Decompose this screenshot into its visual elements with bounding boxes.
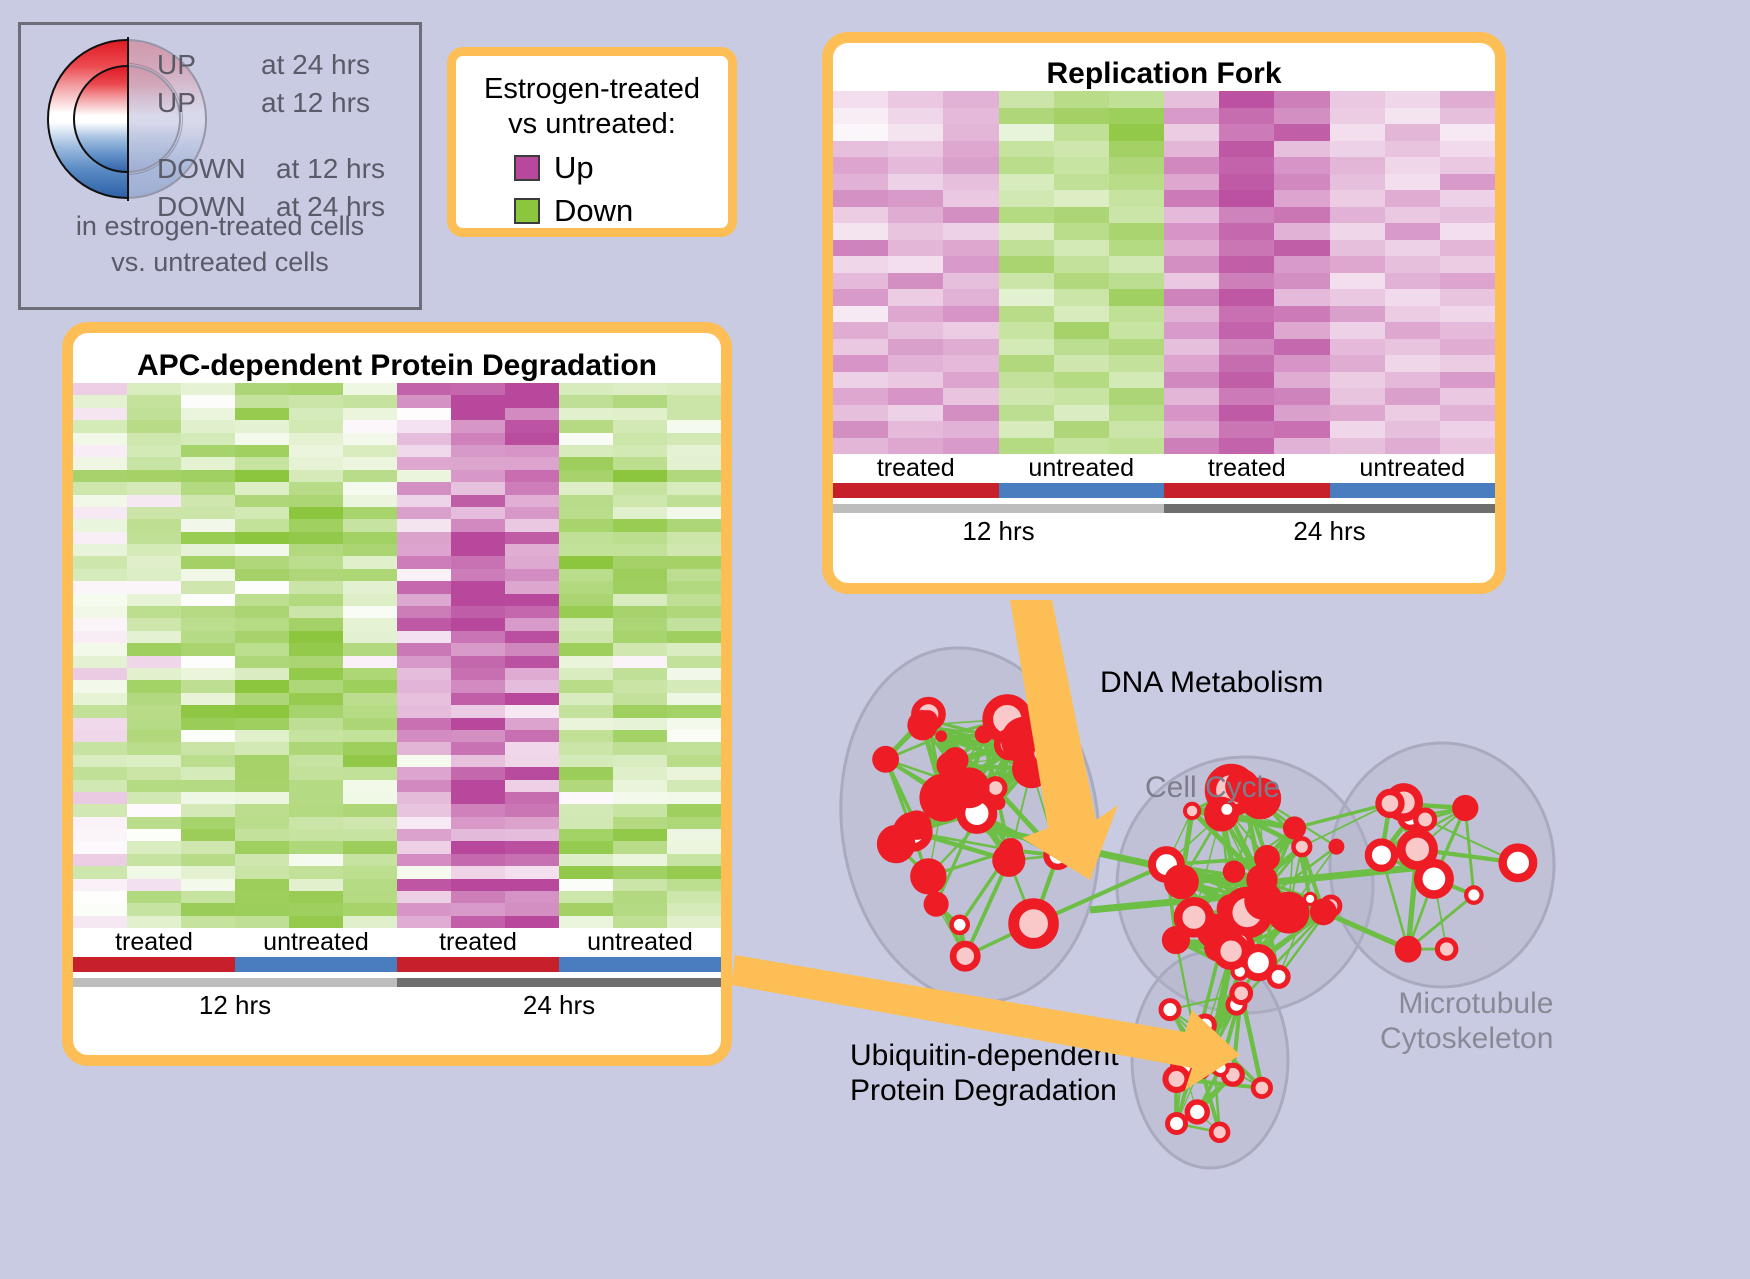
network-edge xyxy=(886,759,977,813)
heatmap-cell xyxy=(235,606,289,618)
network-node[interactable] xyxy=(988,700,1027,739)
heatmap-cell xyxy=(1054,124,1109,141)
heatmap-cell xyxy=(181,470,235,482)
heatmap-cell xyxy=(1330,91,1385,108)
network-node[interactable] xyxy=(986,779,1005,798)
network-edge xyxy=(943,744,1009,797)
heatmap-footer-replication: treateduntreatedtreateduntreated 12 hrs2… xyxy=(833,454,1495,547)
heatmap-cell xyxy=(505,594,559,606)
heatmap-cell xyxy=(559,780,613,792)
network-edge xyxy=(950,765,996,788)
network-node[interactable] xyxy=(1389,787,1419,817)
heatmap-cell xyxy=(181,742,235,754)
heatmap-cell xyxy=(559,755,613,767)
heatmap-cell xyxy=(1330,421,1385,438)
network-node[interactable] xyxy=(1283,816,1306,839)
network-edge xyxy=(1240,912,1324,972)
heatmap-cell xyxy=(181,408,235,420)
heatmap-cell xyxy=(999,388,1054,405)
heatmap-cell xyxy=(1109,207,1164,224)
network-node[interactable] xyxy=(1253,1079,1270,1096)
heatmap-cell xyxy=(1219,207,1274,224)
heatmap-cell xyxy=(289,705,343,717)
network-edge xyxy=(1302,847,1310,899)
heatmap-cell xyxy=(1440,355,1495,372)
network-node[interactable] xyxy=(915,701,942,728)
heatmap-cell xyxy=(888,289,943,306)
heatmap-cell xyxy=(289,433,343,445)
heatmap-cell xyxy=(181,445,235,457)
network-node[interactable] xyxy=(924,892,949,917)
network-edge xyxy=(1381,803,1390,855)
network-node[interactable] xyxy=(1196,1016,1214,1034)
network-node[interactable] xyxy=(1395,936,1422,963)
network-edge xyxy=(923,719,1008,725)
network-edge xyxy=(1009,850,1011,860)
heatmap-cell xyxy=(888,157,943,174)
heatmap-cell xyxy=(1219,91,1274,108)
heatmap-cell xyxy=(451,891,505,903)
network-edge xyxy=(1218,913,1289,948)
heatmap-cell xyxy=(1440,240,1495,257)
heatmap-cell xyxy=(235,755,289,767)
heatmap-cell xyxy=(1385,124,1440,141)
network-edge xyxy=(1231,899,1310,951)
heatmap-cell xyxy=(1330,108,1385,125)
heatmap-cell xyxy=(667,903,721,915)
legend-updown-panel: Estrogen-treated vs untreated: Up Down xyxy=(447,47,737,237)
network-edge xyxy=(1234,798,1260,871)
heatmap-cell xyxy=(559,618,613,630)
heatmap-cell xyxy=(888,322,943,339)
heatmap-cell xyxy=(833,207,888,224)
heatmap-cell xyxy=(667,693,721,705)
network-edge xyxy=(1176,1068,1220,1079)
heatmap-cell xyxy=(667,594,721,606)
heatmap-cell xyxy=(559,631,613,643)
network-edge xyxy=(1221,809,1226,814)
network-edge xyxy=(1198,1056,1220,1132)
heatmap-cell xyxy=(1330,190,1385,207)
network-node[interactable] xyxy=(1310,898,1337,925)
heatmap-cell xyxy=(559,903,613,915)
network-node[interactable] xyxy=(1211,1124,1228,1141)
heatmap-cell xyxy=(1330,372,1385,389)
heatmap-cell xyxy=(1164,190,1219,207)
heatmap-cell xyxy=(667,631,721,643)
heatmap-cell xyxy=(127,445,181,457)
network-node[interactable] xyxy=(1328,839,1344,855)
heatmap-cell xyxy=(943,91,998,108)
network-edge xyxy=(1381,819,1425,855)
network-node[interactable] xyxy=(1032,744,1051,763)
network-node[interactable] xyxy=(907,710,937,740)
network-node[interactable] xyxy=(1322,897,1340,915)
network-node[interactable] xyxy=(1378,792,1401,815)
network-node[interactable] xyxy=(918,710,937,729)
network-edge xyxy=(1194,917,1218,948)
heatmap-cell xyxy=(1330,174,1385,191)
network-node[interactable] xyxy=(877,825,915,863)
heatmap-cell xyxy=(73,556,127,568)
network-node[interactable] xyxy=(1035,733,1047,745)
network-edge xyxy=(941,736,1025,740)
network-edge xyxy=(886,759,913,832)
network-node[interactable] xyxy=(1014,904,1054,944)
network-node[interactable] xyxy=(1305,893,1316,904)
heatmap-cell xyxy=(1164,438,1219,455)
timepoint-colorbar-apc xyxy=(73,978,721,987)
heatmap-cell xyxy=(289,606,343,618)
network-node[interactable] xyxy=(1205,1032,1220,1047)
heatmap-cell xyxy=(559,470,613,482)
network-edge xyxy=(1181,882,1239,972)
network-edge xyxy=(1241,993,1262,1088)
heatmap-cell xyxy=(127,594,181,606)
heatmap-cell xyxy=(1330,273,1385,290)
heatmap-cell xyxy=(397,383,451,395)
heatmap-cell xyxy=(559,693,613,705)
network-edge xyxy=(1218,858,1267,948)
heatmap-cell xyxy=(73,457,127,469)
network-node[interactable] xyxy=(1232,984,1251,1003)
heatmap-cell xyxy=(888,372,943,389)
heatmap-cell xyxy=(343,594,397,606)
heatmap-cell xyxy=(127,718,181,730)
network-node[interactable] xyxy=(897,816,928,847)
heatmap-cell xyxy=(397,656,451,668)
network-node[interactable] xyxy=(1193,1062,1210,1079)
condition-label: treated xyxy=(833,454,999,483)
heatmap-cell xyxy=(181,841,235,853)
heatmap-cell xyxy=(397,433,451,445)
network-node[interactable] xyxy=(1223,1065,1242,1084)
heatmap-cell xyxy=(1164,174,1219,191)
heatmap-cell xyxy=(289,680,343,692)
network-edge xyxy=(950,744,1010,765)
heatmap-cell xyxy=(833,322,888,339)
heatmap-cell xyxy=(667,581,721,593)
network-node[interactable] xyxy=(1254,845,1280,871)
network-edge xyxy=(977,719,1007,813)
heatmap-cell xyxy=(505,606,559,618)
network-edge xyxy=(1267,828,1294,858)
network-node[interactable] xyxy=(910,858,946,894)
heatmap-cell xyxy=(999,174,1054,191)
heatmap-cell xyxy=(73,519,127,531)
heatmap-cell xyxy=(1109,322,1164,339)
network-node[interactable] xyxy=(997,732,1022,757)
network-node[interactable] xyxy=(953,944,977,968)
heatmap-cell xyxy=(397,532,451,544)
heatmap-cell xyxy=(667,668,721,680)
heatmap-cell xyxy=(127,792,181,804)
heatmap-cell xyxy=(127,420,181,432)
network-edge xyxy=(1381,855,1408,949)
network-node[interactable] xyxy=(1244,948,1273,977)
heatmap-cell xyxy=(235,767,289,779)
heatmap-cell xyxy=(397,556,451,568)
network-edge xyxy=(1241,858,1267,941)
network-edge xyxy=(896,798,943,844)
network-edge xyxy=(1294,828,1323,912)
heatmap-cell xyxy=(1274,322,1329,339)
network-edge xyxy=(1214,901,1264,931)
network-node[interactable] xyxy=(1416,810,1435,829)
network-node[interactable] xyxy=(1164,864,1199,899)
network-node[interactable] xyxy=(1173,1057,1193,1077)
network-edge xyxy=(1434,808,1465,879)
heatmap-cell xyxy=(1219,355,1274,372)
network-edge xyxy=(1241,880,1262,941)
heatmap-cell xyxy=(667,519,721,531)
heatmap-cell xyxy=(127,804,181,816)
heatmap-cell xyxy=(667,656,721,668)
heatmap-cell xyxy=(999,339,1054,356)
heatmap-cell xyxy=(888,174,943,191)
heatmap-cell xyxy=(1440,388,1495,405)
heatmap-cell xyxy=(613,408,667,420)
heatmap-cell xyxy=(451,916,505,928)
network-node[interactable] xyxy=(1185,804,1199,818)
network-edge xyxy=(1425,819,1434,878)
network-node[interactable] xyxy=(1165,1068,1187,1090)
network-node[interactable] xyxy=(1001,717,1048,764)
network-edge xyxy=(917,813,977,825)
network-edge xyxy=(1264,858,1267,901)
heatmap-cell xyxy=(127,544,181,556)
network-node[interactable] xyxy=(1187,1102,1207,1122)
network-edge xyxy=(913,825,917,832)
network-node[interactable] xyxy=(942,747,968,773)
heatmap-cell xyxy=(559,383,613,395)
heatmap-cell xyxy=(667,495,721,507)
heatmap-cell xyxy=(235,866,289,878)
heatmap-cell xyxy=(1054,372,1109,389)
heatmap-cell xyxy=(235,891,289,903)
network-edge xyxy=(1234,872,1241,941)
network-node[interactable] xyxy=(1293,838,1310,855)
condition-color-segment xyxy=(833,483,999,498)
heatmap-cell xyxy=(397,866,451,878)
network-node[interactable] xyxy=(1220,897,1242,919)
network-edge xyxy=(1009,860,1034,923)
network-node[interactable] xyxy=(1228,996,1245,1013)
network-node[interactable] xyxy=(1466,887,1481,902)
heatmap-cell xyxy=(999,306,1054,323)
network-node[interactable] xyxy=(1197,914,1232,949)
heatmap-cell xyxy=(235,693,289,705)
network-edge xyxy=(1234,872,1289,913)
network-node[interactable] xyxy=(1452,795,1478,821)
network-node[interactable] xyxy=(949,767,990,808)
network-node[interactable] xyxy=(1204,934,1231,961)
network-edge xyxy=(1404,802,1425,819)
heatmap-cell xyxy=(667,420,721,432)
network-node[interactable] xyxy=(1218,929,1255,966)
network-node[interactable] xyxy=(1012,749,1051,788)
network-node[interactable] xyxy=(1223,860,1245,882)
heatmap-cell xyxy=(343,556,397,568)
heatmap-cell xyxy=(73,680,127,692)
network-edge xyxy=(1279,899,1311,977)
network-node[interactable] xyxy=(1400,807,1421,828)
heatmap-cell xyxy=(505,742,559,754)
heatmap-cell xyxy=(289,841,343,853)
heatmap-cell xyxy=(1219,438,1274,455)
heatmap-cell xyxy=(397,408,451,420)
network-node[interactable] xyxy=(1268,892,1310,934)
condition-color-segment xyxy=(73,957,235,972)
heatmap-cell xyxy=(289,482,343,494)
heatmap-cell xyxy=(1054,438,1109,455)
network-node[interactable] xyxy=(872,746,899,773)
network-node[interactable] xyxy=(1178,901,1210,933)
heatmap-cell xyxy=(1330,438,1385,455)
heatmap-cell xyxy=(613,730,667,742)
network-node[interactable] xyxy=(1246,864,1277,895)
network-edge xyxy=(1194,917,1214,931)
heatmap-cell xyxy=(73,433,127,445)
network-node[interactable] xyxy=(919,774,967,822)
panel-replication-fork: Replication Fork treateduntreatedtreated… xyxy=(822,32,1506,594)
heatmap-cell xyxy=(943,405,998,422)
network-node[interactable] xyxy=(1185,1038,1206,1059)
heatmap-cell xyxy=(1219,240,1274,257)
heatmap-cell xyxy=(888,421,943,438)
network-node[interactable] xyxy=(975,725,993,743)
network-edge xyxy=(1007,719,1041,739)
network-node[interactable] xyxy=(1233,964,1247,978)
heatmap-cell xyxy=(1385,405,1440,422)
legend-keyword-up-12: UP xyxy=(157,87,196,119)
heatmap-cell xyxy=(451,507,505,519)
heatmap-cell xyxy=(397,420,451,432)
heatmap-cell xyxy=(613,544,667,556)
timepoint-labels-replication: 12 hrs24 hrs xyxy=(833,516,1495,547)
network-edge xyxy=(941,736,1031,769)
heatmap-cell xyxy=(1330,240,1385,257)
network-edge xyxy=(1176,882,1181,940)
network-node[interactable] xyxy=(1269,967,1288,986)
network-edge xyxy=(1247,913,1278,977)
heatmap-cell xyxy=(397,519,451,531)
heatmap-cell xyxy=(397,879,451,891)
heatmap-cell xyxy=(667,556,721,568)
heatmap-cell xyxy=(833,124,888,141)
heatmap-cell xyxy=(235,556,289,568)
heatmap-cell xyxy=(397,916,451,928)
network-edge xyxy=(1170,1010,1212,1040)
heatmap-cell xyxy=(613,841,667,853)
heatmap-cell xyxy=(943,273,998,290)
network-edge xyxy=(1241,899,1310,941)
heatmap-cell xyxy=(73,470,127,482)
network-node[interactable] xyxy=(1401,833,1433,865)
network-edge xyxy=(1198,1005,1236,1057)
network-edge xyxy=(1214,872,1234,931)
network-node[interactable] xyxy=(1437,940,1455,958)
network-node[interactable] xyxy=(935,730,947,742)
network-edge xyxy=(1390,803,1434,878)
network-node[interactable] xyxy=(1152,850,1181,879)
heatmap-cell xyxy=(559,457,613,469)
network-node[interactable] xyxy=(1216,936,1245,965)
heatmap-cell xyxy=(235,631,289,643)
network-edge xyxy=(1181,882,1214,931)
network-edge xyxy=(1170,1010,1202,1071)
network-edge xyxy=(928,720,996,788)
heatmap-cell xyxy=(1330,157,1385,174)
heatmap-cell xyxy=(343,742,397,754)
legend-time-up-24: at 24 hrs xyxy=(261,49,370,81)
heatmap-cell xyxy=(1219,108,1274,125)
network-node[interactable] xyxy=(1189,1048,1206,1065)
network-edge xyxy=(1176,1067,1183,1079)
heatmap-cell xyxy=(1054,91,1109,108)
heatmap-cell xyxy=(1109,289,1164,306)
heatmap-cell xyxy=(343,656,397,668)
network-node[interactable] xyxy=(1368,842,1394,868)
network-node[interactable] xyxy=(1418,863,1449,894)
heatmap-cell xyxy=(181,395,235,407)
heatmap-cell xyxy=(343,668,397,680)
network-node[interactable] xyxy=(937,752,964,779)
network-node[interactable] xyxy=(1168,1114,1186,1132)
heatmap-cell xyxy=(999,240,1054,257)
heatmap-cell xyxy=(1274,339,1329,356)
legend-updown-title: Estrogen-treated vs untreated: xyxy=(456,72,728,143)
network-edge xyxy=(1323,906,1331,912)
heatmap-cell xyxy=(613,631,667,643)
network-edge xyxy=(1247,880,1262,913)
network-edge xyxy=(1090,895,1245,910)
heatmap-cell xyxy=(343,631,397,643)
heatmap-cell xyxy=(1219,273,1274,290)
network-node[interactable] xyxy=(1162,926,1190,954)
heatmap-cell xyxy=(943,124,998,141)
network-node[interactable] xyxy=(1244,881,1283,920)
network-edge xyxy=(1181,882,1241,941)
network-edge xyxy=(1181,882,1263,901)
heatmap-cell xyxy=(667,804,721,816)
network-edge xyxy=(896,844,928,876)
network-node[interactable] xyxy=(999,838,1023,862)
network-node[interactable] xyxy=(961,797,993,829)
network-node[interactable] xyxy=(992,844,1025,877)
network-node[interactable] xyxy=(1213,1060,1228,1075)
legend-caption: in estrogen-treated cells vs. untreated … xyxy=(21,209,419,280)
heatmap-cell xyxy=(343,841,397,853)
heatmap-cell xyxy=(833,306,888,323)
heatmap-cell xyxy=(833,157,888,174)
heatmap-cell xyxy=(343,581,397,593)
network-node[interactable] xyxy=(902,810,932,840)
network-node[interactable] xyxy=(952,917,968,933)
network-edge xyxy=(936,904,965,956)
heatmap-cell xyxy=(1164,306,1219,323)
network-node[interactable] xyxy=(1046,844,1069,867)
heatmap-cell xyxy=(1054,157,1109,174)
heatmap-cell xyxy=(73,532,127,544)
network-node[interactable] xyxy=(991,796,1005,810)
network-edge xyxy=(1262,880,1289,913)
network-node[interactable] xyxy=(1227,892,1267,932)
heatmap-cell xyxy=(127,705,181,717)
network-node[interactable] xyxy=(1161,1001,1179,1019)
network-node[interactable] xyxy=(1233,933,1248,948)
network-node[interactable] xyxy=(1503,848,1534,879)
